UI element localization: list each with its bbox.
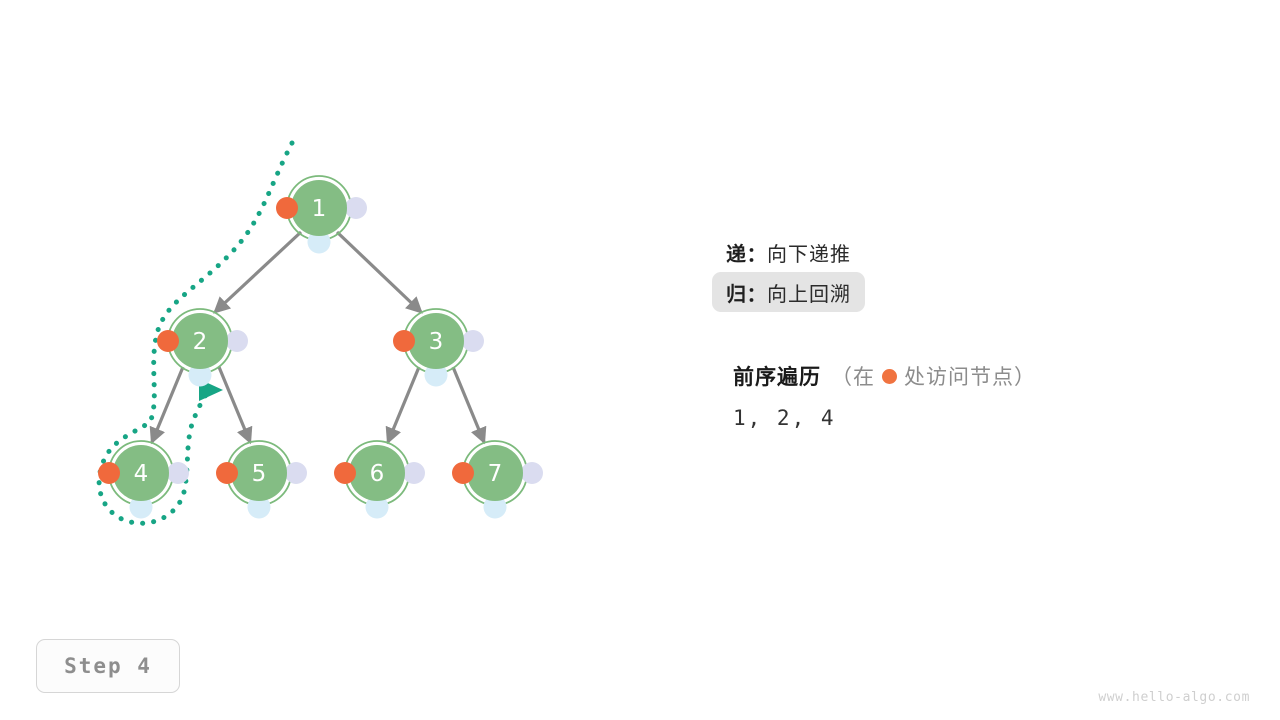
node-visit-dot-icon (334, 462, 356, 484)
node-visit-dot-icon (276, 197, 298, 219)
legend-key-descend: 递： (726, 238, 767, 267)
node-right-dot-icon (403, 462, 425, 484)
node-right-dot-icon (285, 462, 307, 484)
legend-row-ascend: 归： 向上回溯 (712, 272, 865, 312)
edge-3-6 (388, 367, 419, 442)
traversal-order-values: 1, 2, 4 (733, 406, 1253, 430)
legend-row-descend: 递： 向下递推 (712, 232, 865, 272)
tree-nodes: 1234567 (98, 176, 543, 519)
tree-node-4[interactable]: 4 (98, 441, 189, 519)
node-right-dot-icon (167, 462, 189, 484)
legend-value-ascend: 向上回溯 (767, 278, 851, 307)
node-visit-dot-icon (393, 330, 415, 352)
site-watermark: www.hello-algo.com (1098, 690, 1250, 705)
traversal-note-prefix: （在 (831, 361, 875, 391)
visit-marker-icon (882, 369, 897, 384)
edge-1-3 (337, 232, 421, 312)
node-label: 5 (252, 461, 267, 487)
node-visit-dot-icon (98, 462, 120, 484)
node-label: 4 (134, 461, 149, 487)
node-right-dot-icon (345, 197, 367, 219)
step-badge: Step 4 (36, 639, 180, 693)
node-visit-dot-icon (216, 462, 238, 484)
tree-node-2[interactable]: 2 (157, 309, 248, 387)
traversal-note-suffix: 处访问节点） (904, 361, 1036, 391)
tree-node-6[interactable]: 6 (334, 441, 425, 519)
node-label: 6 (370, 461, 385, 487)
recursion-legend: 递： 向下递推 归： 向上回溯 (726, 232, 1246, 312)
node-right-dot-icon (226, 330, 248, 352)
node-visit-dot-icon (157, 330, 179, 352)
legend-key-ascend: 归： (726, 278, 767, 307)
node-label: 3 (429, 329, 444, 355)
traversal-order-block: 前序遍历 （在 处访问节点） 1, 2, 4 (733, 358, 1253, 430)
edge-3-7 (453, 367, 484, 442)
edge-2-4 (152, 367, 183, 442)
node-label: 2 (193, 329, 208, 355)
node-label: 1 (312, 196, 327, 222)
tree-node-5[interactable]: 5 (216, 441, 307, 519)
node-label: 7 (488, 461, 503, 487)
node-right-dot-icon (521, 462, 543, 484)
tree-node-3[interactable]: 3 (393, 309, 484, 387)
traversal-order-note: （在 处访问节点） (831, 361, 1036, 391)
traversal-order-title: 前序遍历 (733, 361, 821, 391)
traversal-order-heading: 前序遍历 （在 处访问节点） (733, 358, 1253, 394)
tree-node-7[interactable]: 7 (452, 441, 543, 519)
illustration-canvas: 1234567 递： 向下递推 归： 向上回溯 前序遍历 （在 处访问节点） 1… (0, 0, 1280, 720)
edge-2-5 (219, 367, 250, 442)
legend-value-descend: 向下递推 (767, 238, 851, 267)
node-right-dot-icon (462, 330, 484, 352)
binary-tree-diagram: 1234567 (0, 0, 640, 600)
edge-1-2 (215, 232, 301, 312)
node-visit-dot-icon (452, 462, 474, 484)
